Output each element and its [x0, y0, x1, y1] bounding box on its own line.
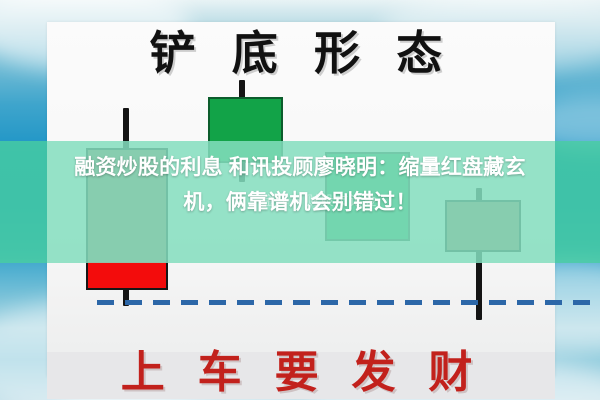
candle-body-lower [86, 262, 168, 290]
headline-line-2: 机，俩靠谱机会别错过！ [0, 185, 600, 220]
headline-text: 融资炒股的利息 和讯投顾廖晓明：缩量红盘藏玄 机，俩靠谱机会别错过！ [0, 150, 600, 220]
headline-line-1: 融资炒股的利息 和讯投顾廖晓明：缩量红盘藏玄 [0, 150, 600, 185]
support-dashed-line [97, 300, 597, 305]
screenshot-canvas: 铲 底 形 态 上 车 要 发 财 金车 • 财股市论金 融资炒股的利息 和讯投… [0, 0, 600, 400]
chart-title-bottom: 上 车 要 发 财 [47, 348, 555, 398]
chart-title-top: 铲 底 形 态 [47, 22, 555, 84]
